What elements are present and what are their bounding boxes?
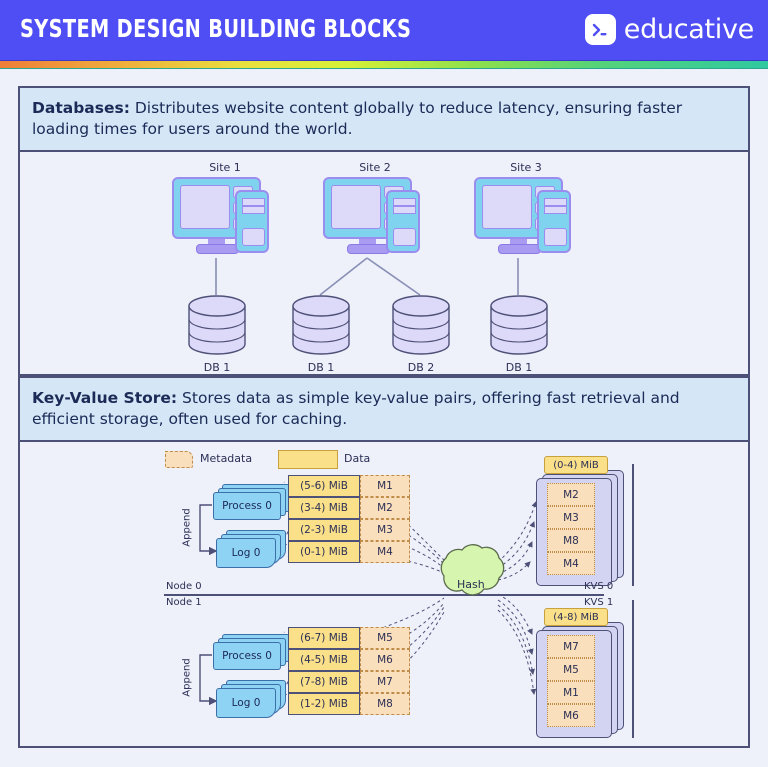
database-cylinder-4	[488, 294, 550, 356]
kvs-1-block-2: M1	[547, 681, 595, 704]
meta-block-node-1-row-1: M6	[360, 649, 410, 671]
meta-block-node-0-row-0: M1	[360, 475, 410, 497]
append-label-node-1: Append	[182, 654, 193, 702]
databases-diagram: Site 1 Site 2 Site 3	[20, 152, 748, 376]
node-divider	[164, 594, 604, 596]
process-box-node-0: Process 0	[213, 492, 281, 520]
data-range-node-1-row-3: (1-2) MiB	[288, 693, 360, 715]
terminal-prompt-icon	[585, 14, 616, 45]
databases-term: Databases:	[32, 99, 130, 117]
kvs-diagram: Metadata Data	[20, 442, 748, 758]
legend-label-data: Data	[344, 452, 370, 465]
kvs-term: Key-Value Store:	[32, 389, 177, 407]
kvs-0-range-tag: (0-4) MiB	[544, 456, 608, 474]
kvs-0-block-2: M8	[547, 529, 595, 552]
process-box-node-1: Process 0	[213, 642, 281, 670]
databases-description: Distributes website content globally to …	[32, 99, 682, 138]
site-label-2: Site 2	[335, 161, 415, 174]
log-box-node-1: Log 0	[216, 688, 276, 718]
meta-block-node-0-row-1: M2	[360, 497, 410, 519]
data-range-node-0-row-3: (0-1) MiB	[288, 541, 360, 563]
page-title: System Design Building Blocks	[20, 14, 411, 43]
node-1-label: Node 1	[166, 597, 202, 608]
hash-label: Hash	[457, 578, 485, 591]
data-range-node-0-row-1: (3-4) MiB	[288, 497, 360, 519]
log-box-node-0: Log 0	[216, 538, 276, 568]
brand-logo: educative	[585, 14, 754, 45]
kvs-1-block-3: M6	[547, 704, 595, 727]
kvs-1-range-tag: (4-8) MiB	[544, 608, 608, 626]
db-label-4: DB 1	[479, 361, 559, 374]
kvs-0-block-1: M3	[547, 506, 595, 529]
db-label-2: DB 1	[281, 361, 361, 374]
content-frame: Databases: Distributes website content g…	[18, 86, 750, 748]
append-label-node-0: Append	[182, 504, 193, 552]
db-label-3: DB 2	[381, 361, 461, 374]
kvs-0-block-0: M2	[547, 483, 595, 506]
data-range-node-1-row-0: (6-7) MiB	[288, 627, 360, 649]
kvs-0-block-3: M4	[547, 552, 595, 575]
gradient-divider	[0, 60, 768, 69]
data-swatch-icon	[278, 450, 338, 469]
kvs-0-rule	[632, 464, 634, 586]
database-cylinder-2	[290, 294, 352, 356]
site-label-3: Site 3	[486, 161, 566, 174]
brand-name: educative	[624, 14, 754, 45]
meta-block-node-1-row-2: M7	[360, 671, 410, 693]
site-label-1: Site 1	[185, 161, 265, 174]
kvs-1-block-1: M5	[547, 658, 595, 681]
meta-block-node-1-row-3: M8	[360, 693, 410, 715]
data-range-node-0-row-2: (2-3) MiB	[288, 519, 360, 541]
meta-block-node-0-row-2: M3	[360, 519, 410, 541]
metadata-swatch-icon	[165, 451, 193, 468]
node-0-label: Node 0	[166, 581, 202, 592]
db-label-1: DB 1	[177, 361, 257, 374]
kvs-1-block-0: M7	[547, 635, 595, 658]
data-range-node-1-row-1: (4-5) MiB	[288, 649, 360, 671]
computer-icon-site-3	[474, 177, 589, 257]
meta-block-node-1-row-0: M5	[360, 627, 410, 649]
data-range-node-1-row-2: (7-8) MiB	[288, 671, 360, 693]
kvs-0-label: KVS 0	[584, 581, 613, 592]
databases-caption: Databases: Distributes website content g…	[20, 88, 748, 152]
database-cylinder-1	[186, 294, 248, 356]
legend-label-metadata: Metadata	[200, 452, 252, 465]
computer-icon-site-1	[172, 177, 287, 257]
meta-block-node-0-row-3: M4	[360, 541, 410, 563]
infographic-page: System Design Building Blocks educative …	[0, 0, 768, 767]
data-range-node-0-row-0: (5-6) MiB	[288, 475, 360, 497]
computer-icon-site-2	[323, 177, 438, 257]
kvs-caption: Key-Value Store: Stores data as simple k…	[20, 376, 748, 442]
kvs-1-rule	[632, 600, 634, 738]
kvs-1-label: KVS 1	[584, 597, 613, 608]
page-header: System Design Building Blocks educative	[0, 0, 768, 60]
database-cylinder-3	[390, 294, 452, 356]
